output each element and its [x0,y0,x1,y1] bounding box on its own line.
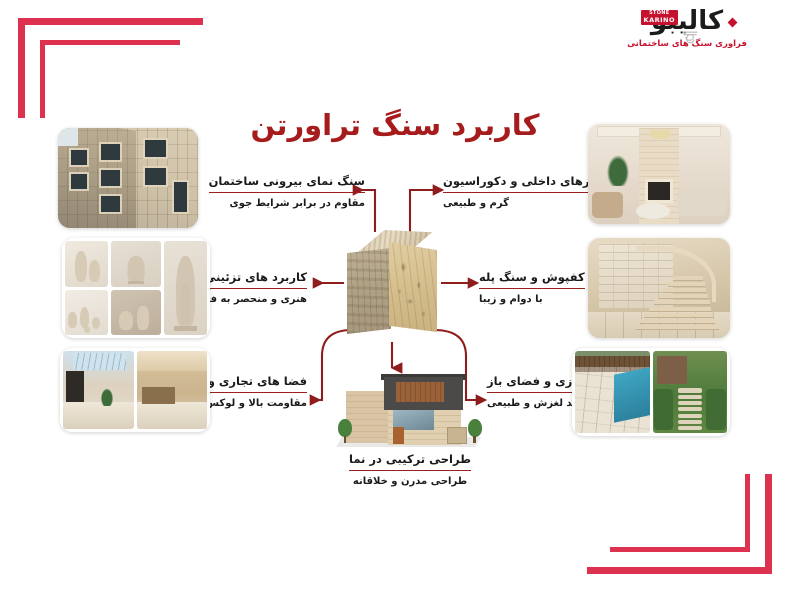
branch-label-flooring-stairs: کفپوش و سنگ پله با دوام و زیبا [479,266,585,306]
collage-cell [137,351,208,429]
collage-cell [653,351,728,433]
branch-label-interior-walls: دیوارهای داخلی و دکوراسیون گرم و طبیعی [443,170,611,210]
illustration-modern-house [330,362,488,454]
center-travertine-cube [345,230,440,340]
cube-right-face [389,242,437,332]
branch-label-decorative-uses: کاربرد های تزئینی هنری و منحصر به فرد [199,266,307,306]
branch-label-exterior-facade: سنگ نمای بیرونی ساختمان مقاوم در برابر ش… [209,170,365,210]
collage-cell [111,241,161,287]
photo-luxury-living-room [588,124,730,224]
collage-cell [63,351,134,429]
infographic-canvas: کالیبو STONE KARINO فراوری سنگ های ساختم… [0,0,790,592]
photo-hotel-lobby-and-mall [60,348,210,432]
collage-cell [65,241,108,287]
collage-cell [65,290,108,336]
photo-grand-staircase [588,238,730,338]
photo-stone-sculpture-collage [62,238,210,338]
collage-cell [111,290,161,336]
collage-cell [575,351,650,433]
photo-garden-path-and-pool [572,348,730,436]
photo-building-facade [58,128,198,228]
cube-left-face [347,248,391,334]
collage-cell [164,241,207,335]
